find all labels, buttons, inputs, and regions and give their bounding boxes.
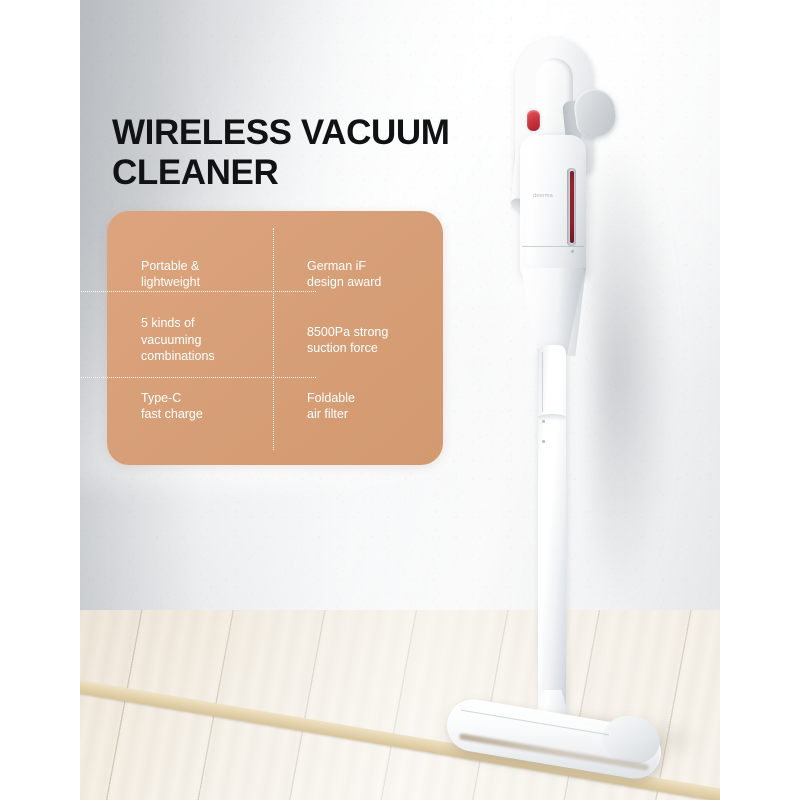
feature-label: Portable & lightweight [141, 258, 200, 291]
body-screw-dot [571, 250, 574, 253]
body-highlight [527, 142, 540, 266]
card-divider-horizontal-1 [20, 291, 316, 292]
wand-seam [542, 352, 543, 412]
card-divider-vertical [273, 228, 274, 450]
card-divider-horizontal-2 [20, 377, 316, 378]
feature-label: 5 kinds of vacuuming combinations [141, 315, 215, 365]
power-button[interactable] [527, 110, 540, 131]
feature-cell-filter: Foldable air filter [275, 373, 443, 439]
brand-logo: deerma [532, 192, 554, 201]
wand-dot-lower [542, 440, 545, 443]
red-accent-strip [570, 171, 574, 243]
feature-cell-if-award: German iF design award [275, 241, 443, 307]
feature-cell-combinations: 5 kinds of vacuuming combinations [107, 307, 275, 373]
body-seam [522, 246, 584, 247]
feature-cell-portable: Portable & lightweight [107, 241, 275, 307]
feature-label: German iF design award [307, 258, 381, 291]
feature-label: Foldable air filter [307, 390, 355, 423]
feature-label: Type-C fast charge [141, 390, 203, 423]
feature-label: 8500Pa strong suction force [307, 324, 388, 357]
wand-dot-upper [542, 420, 545, 423]
page-title: WIRELESS VACUUM CLEANER [112, 113, 450, 192]
product-banner: deerma WIRELESS VACUUM CLEANER Portable … [0, 0, 800, 800]
feature-cell-type-c: Type-C fast charge [107, 373, 275, 439]
vacuum-wall-shadow [592, 60, 712, 680]
feature-card: Portable & lightweight German iF design … [107, 211, 443, 465]
neck-shading [558, 268, 586, 356]
feature-cell-suction: 8500Pa strong suction force [275, 307, 443, 373]
